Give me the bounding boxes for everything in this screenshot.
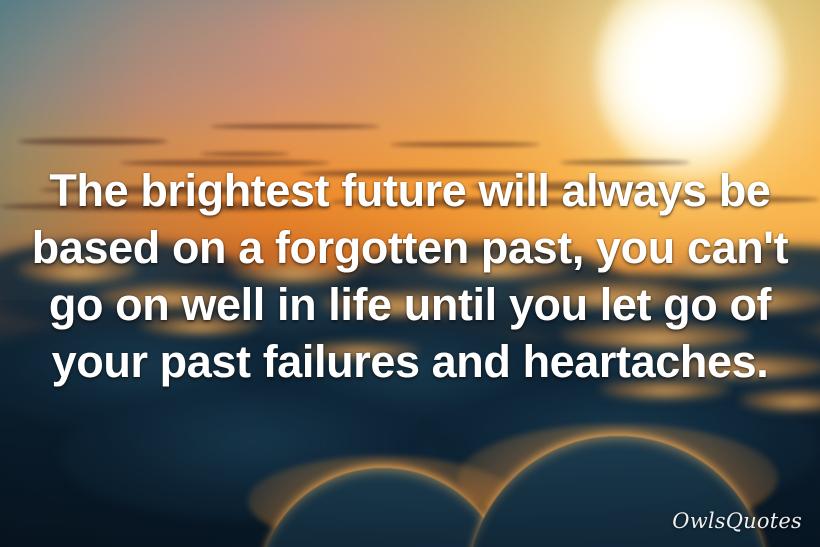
watermark-owlsquotes: OwlsQuotes xyxy=(672,509,802,533)
quote-image: The brightest future will always be base… xyxy=(0,0,820,547)
quote-line-2: based on a forgotten past, you can't xyxy=(16,219,804,276)
quote-block: The brightest future will always be base… xyxy=(0,162,820,390)
quote-line-4: your past failures and heartaches. xyxy=(16,333,804,390)
quote-line-3: go on well in life until you let go of xyxy=(16,276,804,333)
quote-line-1: The brightest future will always be xyxy=(16,162,804,219)
